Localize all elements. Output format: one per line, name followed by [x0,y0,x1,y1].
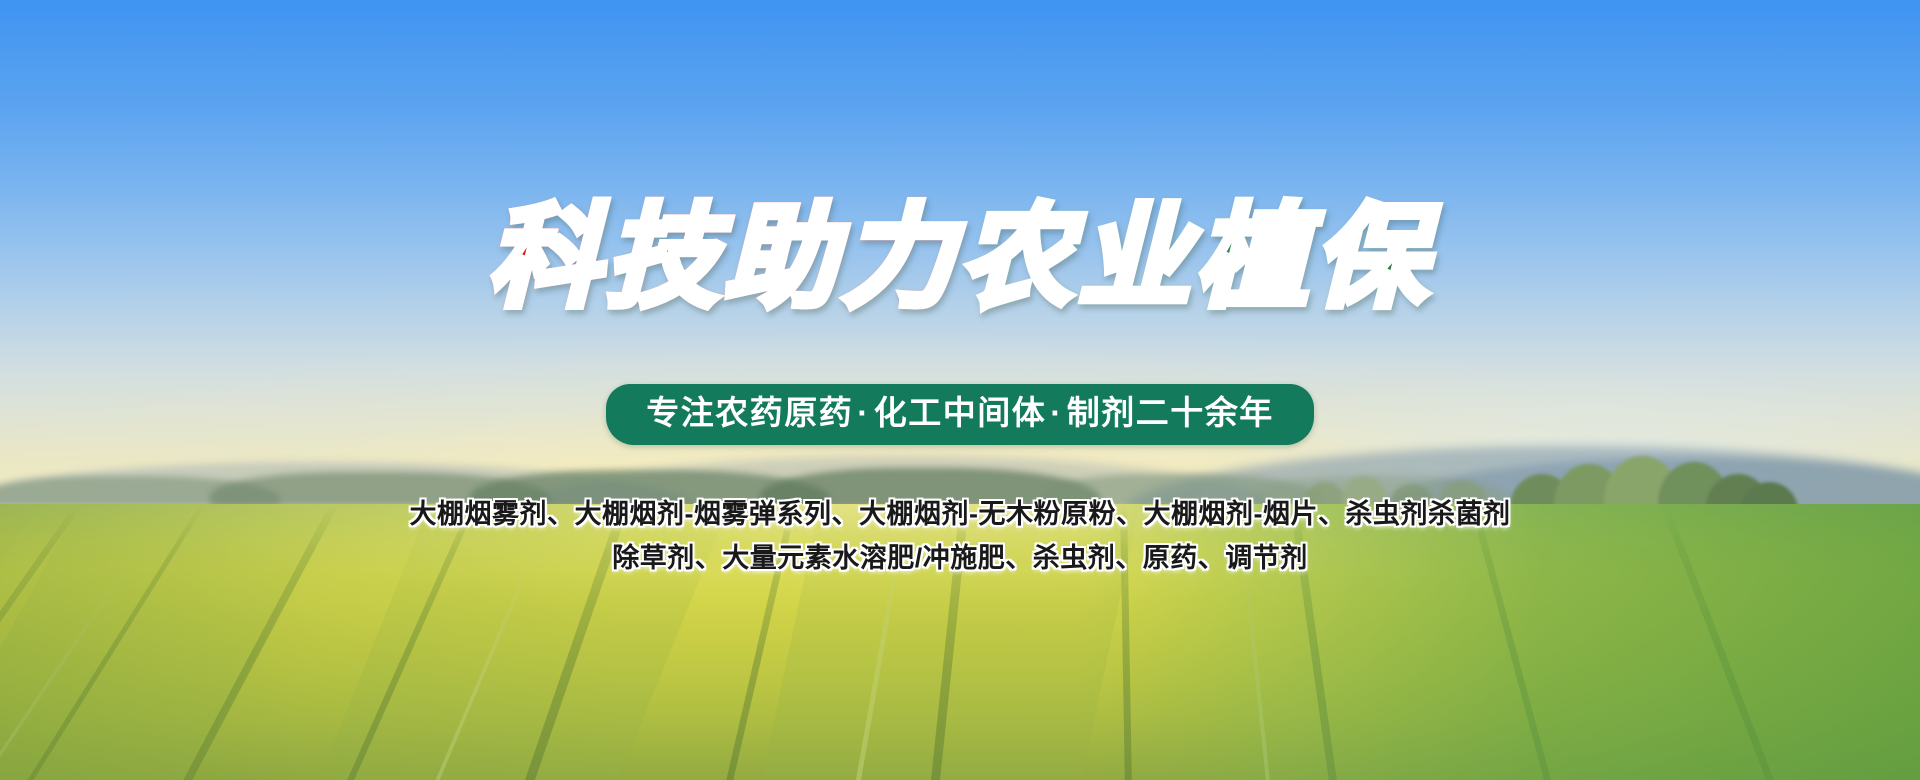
pill-segment-2: 化工中间体 [874,394,1047,431]
subtitle-pill-wrapper: 专注农药原药·化工中间体·制剂二十余年 [0,384,1920,445]
pill-segment-1: 专注农药原药 [646,394,853,431]
headline-red-text: 科技助力 [488,192,960,323]
subtitle-pill: 专注农药原药·化工中间体·制剂二十余年 [606,384,1314,445]
product-line-2: 除草剂、大量元素水溶肥/冲施肥、杀虫剂、原药、调节剂 [0,536,1920,580]
pill-separator-dot: · [1046,394,1067,431]
pill-separator-dot: · [853,394,874,431]
product-list: 大棚烟雾剂、大棚烟剂-烟雾弹系列、大棚烟剂-无木粉原粉、大棚烟剂-烟片、杀虫剂杀… [0,492,1920,580]
headline-green-text: 农业植保 [960,192,1432,323]
product-line-1: 大棚烟雾剂、大棚烟剂-烟雾弹系列、大棚烟剂-无木粉原粉、大棚烟剂-烟片、杀虫剂杀… [0,492,1920,536]
hero-banner: 科技助力农业植保 专注农药原药·化工中间体·制剂二十余年 大棚烟雾剂、大棚烟剂-… [0,0,1920,780]
page-title: 科技助力农业植保 [0,196,1920,320]
pill-segment-3: 制剂二十余年 [1067,394,1274,431]
